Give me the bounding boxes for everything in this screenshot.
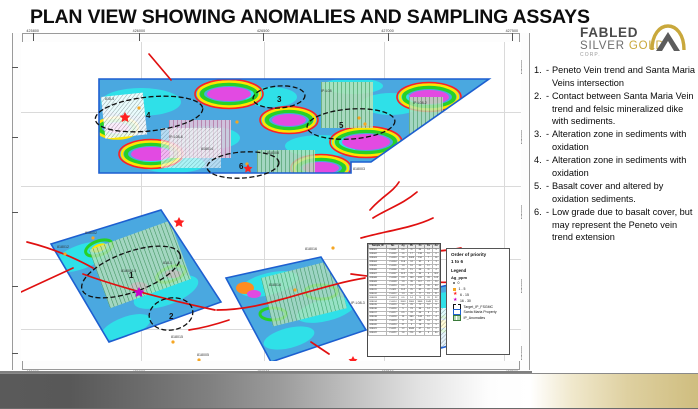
sample-assay-table[interactable]: Sample_IDNo.AgPbZnCuAu 818001C-00010.511… [367, 243, 441, 357]
svg-text:818002: 818002 [85, 231, 97, 235]
svg-text:IP-L08-6: IP-L08-6 [169, 135, 183, 139]
table-row[interactable]: 818022C-00221.621492330 [369, 331, 440, 335]
bullet-number: 2. [534, 90, 546, 128]
page-title: PLAN VIEW SHOWING ANOMALIES AND SAMPLING… [30, 6, 550, 29]
legend-class-row: 0 [453, 281, 505, 286]
svg-text:818005: 818005 [197, 353, 209, 357]
svg-text:6: 6 [239, 162, 244, 171]
legend-class-list: 01 - 5★6 - 15★16 - 30 [451, 281, 505, 303]
map-legend-box: Order of priority 1 to 6 Legend Ag_ppm 0… [446, 248, 510, 355]
bullet-number: 3. [534, 128, 546, 153]
bullet-text: Low grade due to basalt cover, but may r… [552, 206, 698, 244]
map-axis-tick [12, 67, 18, 68]
svg-text:2: 2 [169, 312, 174, 321]
bullet-number: 6. [534, 206, 546, 244]
legend-layer-label: Target_IP_FSGMC [464, 305, 494, 309]
table-body: 818001C-00010.51164145818002C-00021.5171… [369, 249, 440, 336]
annotation-bullet: 4.-Alteration zone in sediments with oxi… [534, 154, 698, 179]
map-axis-tick [12, 286, 18, 287]
svg-text:818-1: 818-1 [163, 261, 172, 265]
annotation-bullet: 3.-Alteration zone in sediments with oxi… [534, 128, 698, 153]
bullet-number: 5. [534, 180, 546, 205]
svg-text:818014: 818014 [269, 283, 281, 287]
table-cell: 1.6 [399, 331, 407, 335]
annotation-bullet-list: 1.-Peneto Vein trend and Santa Maria Vei… [534, 64, 698, 245]
legend-layer-row: IP_Anomalies [453, 316, 505, 321]
table-cell: 818022 [369, 331, 387, 335]
priority-title: Order of priority [451, 252, 505, 259]
map-axis-tick [139, 33, 140, 39]
svg-text:5: 5 [339, 121, 344, 130]
map-axis-tick [512, 33, 513, 39]
hatch-box-swatch-icon [453, 315, 461, 321]
legend-layer-row: Santa Maria Property [453, 310, 505, 315]
svg-text:3: 3 [277, 95, 282, 104]
map-axis-tick [33, 33, 34, 39]
svg-text:818008: 818008 [267, 151, 279, 155]
bullet-text: Alteration zone in sediments with oxidat… [552, 128, 698, 153]
legend-class-label: 16 - 30 [460, 299, 471, 303]
table-cell: 214 [407, 331, 415, 335]
logo-silver-text: SILVER [580, 40, 629, 52]
square-swatch-icon [453, 288, 456, 291]
footer-gradient-bar [0, 373, 698, 409]
legend-layer-row: Target_IP_FSGMC [453, 304, 505, 309]
bullet-text: Peneto Vein trend and Santa Maria Veins … [552, 64, 698, 89]
legend-layer-label: IP_Anomalies [464, 316, 486, 320]
map-axis-tick [12, 353, 18, 354]
table-cell: 92 [416, 331, 424, 335]
svg-text:818003: 818003 [353, 167, 365, 171]
svg-text:818012: 818012 [57, 245, 69, 249]
legend-class-row: ★6 - 15 [453, 292, 505, 297]
chevron-mountain-icon [650, 24, 686, 54]
bullet-number: 1. [534, 64, 546, 89]
svg-text:818-5: 818-5 [105, 97, 114, 101]
priority-range: 1 to 6 [451, 259, 505, 266]
legend-class-label: 6 - 15 [460, 293, 469, 297]
svg-text:818004-5: 818004-5 [121, 269, 136, 273]
map-axis-tick [388, 33, 389, 39]
annotation-bullet: 6.-Low grade due to basalt cover, but ma… [534, 206, 698, 244]
svg-text:4: 4 [146, 111, 151, 120]
table-cell: 30 [433, 331, 440, 335]
svg-text:IP-L08-3: IP-L08-3 [351, 301, 365, 305]
annotation-bullet: 2.-Contact between Santa Maria Vein tren… [534, 90, 698, 128]
table-cell: C-0022 [387, 331, 399, 335]
slide-root: PLAN VIEW SHOWING ANOMALIES AND SAMPLING… [0, 0, 698, 409]
legend-field-name: Ag_ppm [451, 275, 505, 280]
company-logo: FABLED SILVER GOLD CORP. [580, 26, 686, 60]
bullet-text: Alteration zone in sediments with oxidat… [552, 154, 698, 179]
svg-text:818016: 818016 [305, 247, 317, 251]
map-axis-tick [12, 212, 18, 213]
star-swatch-icon: ★ [453, 298, 457, 303]
legend-class-row: 1 - 5 [453, 287, 505, 292]
annotation-bullet: 1.-Peneto Vein trend and Santa Maria Vei… [534, 64, 698, 89]
legend-class-label: 1 - 5 [459, 287, 466, 291]
legend-heading: Legend [451, 268, 505, 273]
svg-text:818015: 818015 [171, 335, 183, 339]
svg-text:818014: 818014 [201, 147, 213, 151]
bullet-text: Contact between Santa Maria Vein trend a… [552, 90, 698, 128]
svg-text:IP-L08: IP-L08 [321, 89, 332, 93]
dot-swatch-icon [453, 282, 455, 284]
legend-layer-label: Santa Maria Property [464, 310, 497, 314]
legend-class-row: ★16 - 30 [453, 298, 505, 303]
legend-layer-list: Target_IP_FSGMCSanta Maria PropertyIP_An… [451, 304, 505, 321]
svg-text:IP-L08-2: IP-L08-2 [413, 101, 427, 105]
legend-class-label: 0 [458, 281, 460, 285]
table-cell: 3 [424, 331, 432, 335]
map-axis-tick [263, 33, 264, 39]
bullet-text: Basalt cover and altered by oxidation se… [552, 180, 698, 205]
bullet-number: 4. [534, 154, 546, 179]
map-axis-tick [12, 137, 18, 138]
annotation-bullet: 5.-Basalt cover and altered by oxidation… [534, 180, 698, 205]
